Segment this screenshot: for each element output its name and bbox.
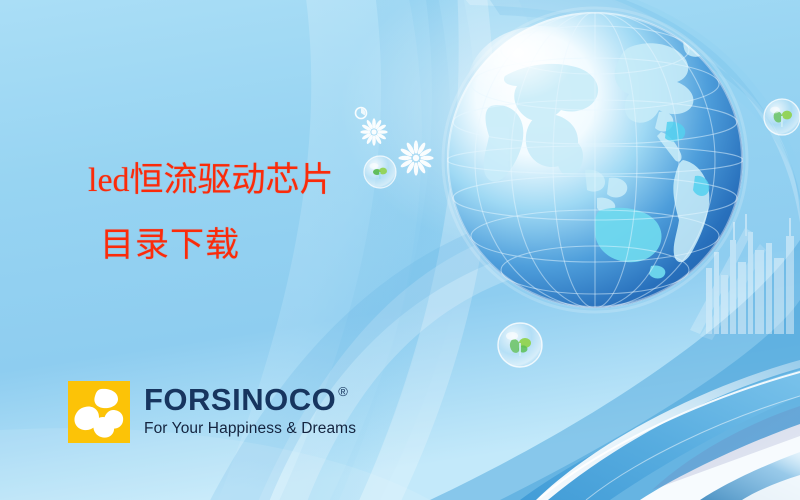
headline-line-1: led恒流驱动芯片 — [88, 164, 418, 199]
promo-banner: led恒流驱动芯片 目录下载 FORSINOCO ® — [0, 0, 800, 500]
four-petal-flower-logo-icon — [68, 381, 130, 443]
white-starburst-flower-small — [360, 118, 388, 146]
company-logo: FORSINOCO ® For Your Happiness & Dreams — [68, 381, 356, 443]
bubble-with-leaf-bottom — [496, 321, 544, 369]
headline-line-2: 目录下载 — [100, 229, 418, 264]
earth-globe-graphic — [445, 10, 745, 310]
wordmark-text: FORSINOCO — [144, 384, 336, 415]
city-skyline-silhouette — [690, 214, 794, 340]
registered-trademark-icon: ® — [338, 385, 348, 398]
small-ring-marker — [352, 104, 370, 122]
company-wordmark: FORSINOCO ® — [144, 384, 356, 415]
headline-block: led恒流驱动芯片 目录下载 — [88, 164, 418, 263]
company-tagline: For Your Happiness & Dreams — [144, 421, 356, 437]
logo-text-block: FORSINOCO ® For Your Happiness & Dreams — [144, 381, 356, 437]
bubble-with-leaf-right — [762, 97, 800, 137]
